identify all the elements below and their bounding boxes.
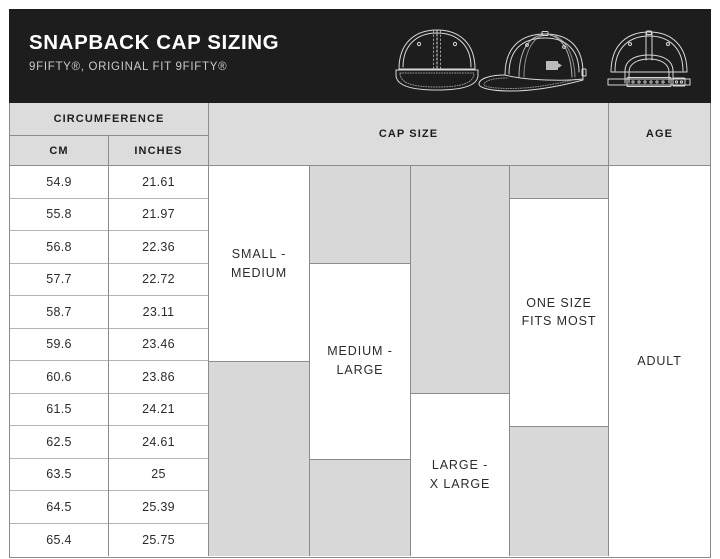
column-large-x-large: LARGE - X LARGE	[411, 166, 510, 556]
table-row: 21.61	[109, 166, 208, 199]
inactive-band	[310, 166, 410, 264]
inactive-band	[310, 459, 410, 557]
column-header-circumference: CIRCUMFERENCE	[10, 103, 209, 136]
table-row: 23.11	[109, 296, 208, 329]
table-row: 23.46	[109, 329, 208, 362]
column-cm-values: 54.955.856.857.758.759.660.661.562.563.5…	[10, 166, 109, 556]
size-band-medium-large: MEDIUM - LARGE	[310, 264, 410, 459]
column-header-inches: INCHES	[109, 136, 209, 166]
page-subtitle: 9FIFTY®, ORIGINAL FIT 9FIFTY®	[29, 61, 279, 73]
table-row: 54.9	[10, 166, 108, 199]
column-one-size-fits-most: ONE SIZE FITS MOST	[510, 166, 609, 556]
table-row: 23.86	[109, 361, 208, 394]
table-row: 25	[109, 459, 208, 492]
table-row: 24.61	[109, 426, 208, 459]
table-body: 54.955.856.857.758.759.660.661.562.563.5…	[10, 166, 710, 556]
cap-illustrations	[387, 17, 707, 99]
cap-side-view-icon	[479, 32, 586, 92]
table-row: 55.8	[10, 199, 108, 232]
page-title: SNAPBACK CAP SIZING	[29, 32, 279, 55]
column-inches-values: 21.6121.9722.3622.7223.1123.4623.8624.21…	[109, 166, 209, 556]
table-row: 59.6	[10, 329, 108, 362]
size-band-small-medium: SMALL - MEDIUM	[209, 166, 309, 361]
inactive-band	[510, 166, 608, 199]
cap-back-view-icon	[608, 31, 690, 87]
table-row: 22.36	[109, 231, 208, 264]
inactive-band	[510, 426, 608, 556]
column-header-age: AGE	[609, 103, 710, 166]
sizing-table: CIRCUMFERENCE CM INCHES CAP SIZE AGE 54.…	[9, 103, 711, 558]
age-label: AGE	[646, 128, 673, 140]
table-row: 25.39	[109, 491, 208, 524]
inactive-band	[411, 166, 509, 394]
size-band-adult: ADULT	[609, 166, 710, 556]
table-row: 64.5	[10, 491, 108, 524]
table-row: 61.5	[10, 394, 108, 427]
cm-label: CM	[49, 145, 68, 157]
circumference-label: CIRCUMFERENCE	[54, 113, 165, 125]
column-small-medium: SMALL - MEDIUM	[209, 166, 310, 556]
size-chart: SNAPBACK CAP SIZING 9FIFTY®, ORIGINAL FI…	[9, 9, 711, 558]
table-row: 60.6	[10, 361, 108, 394]
table-row: 22.72	[109, 264, 208, 297]
column-age-adult: ADULT	[609, 166, 710, 556]
new-era-logo-icon	[546, 61, 562, 70]
header-text-block: SNAPBACK CAP SIZING 9FIFTY®, ORIGINAL FI…	[29, 32, 279, 73]
column-medium-large: MEDIUM - LARGE	[310, 166, 411, 556]
cap-front-view-icon	[396, 30, 478, 90]
table-row: 24.21	[109, 394, 208, 427]
column-header-cap-size: CAP SIZE	[209, 103, 609, 166]
inches-label: INCHES	[134, 145, 182, 157]
table-row: 63.5	[10, 459, 108, 492]
table-row: 62.5	[10, 426, 108, 459]
table-row: 57.7	[10, 264, 108, 297]
inactive-band	[209, 361, 309, 556]
table-row: 65.4	[10, 524, 108, 557]
size-band-large-x-large: LARGE - X LARGE	[411, 394, 509, 557]
table-row: 21.97	[109, 199, 208, 232]
cap-size-label: CAP SIZE	[379, 128, 438, 140]
chart-header: SNAPBACK CAP SIZING 9FIFTY®, ORIGINAL FI…	[9, 9, 711, 103]
table-row: 56.8	[10, 231, 108, 264]
column-header-cm: CM	[10, 136, 109, 166]
table-row: 25.75	[109, 524, 208, 557]
table-row: 58.7	[10, 296, 108, 329]
size-band-one-size: ONE SIZE FITS MOST	[510, 199, 608, 427]
